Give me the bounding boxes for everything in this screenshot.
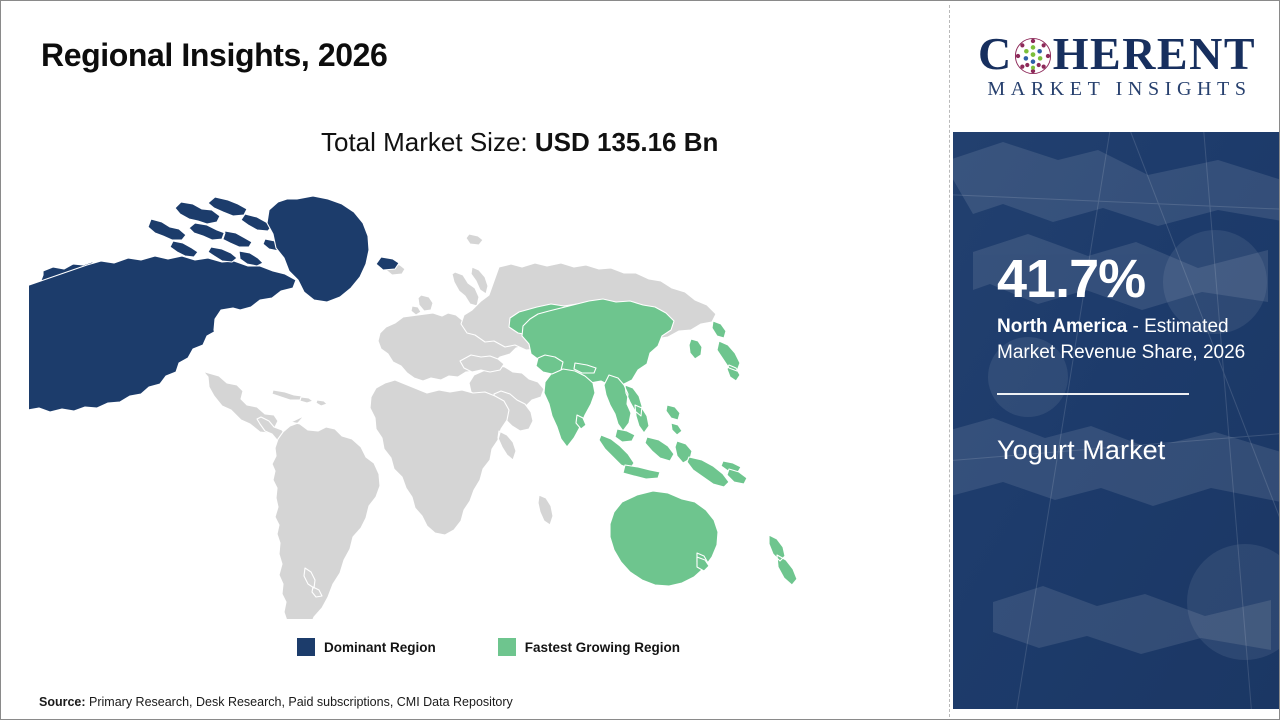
legend-item-fastest-growing: Fastest Growing Region <box>498 638 680 656</box>
world-map <box>29 179 909 619</box>
source-note: Source: Primary Research, Desk Research,… <box>39 695 513 709</box>
world-map-svg <box>29 179 909 619</box>
total-market-size: Total Market Size: USD 135.16 Bn <box>321 127 718 158</box>
globe-icon <box>1014 37 1052 75</box>
stat-value: 41.7% <box>997 252 1265 307</box>
source-text: Primary Research, Desk Research, Paid su… <box>86 695 513 709</box>
logo-tagline: MARKET INSIGHTS <box>982 79 1251 99</box>
stat-panel-content: 41.7% North America - Estimated Market R… <box>997 252 1265 466</box>
stat-region-name: North America <box>997 316 1127 337</box>
map-legend: Dominant Region Fastest Growing Region <box>297 638 680 656</box>
legend-item-dominant: Dominant Region <box>297 638 436 656</box>
stat-description: North America - Estimated Market Revenue… <box>997 314 1265 365</box>
stat-panel: 41.7% North America - Estimated Market R… <box>953 132 1280 709</box>
brand-logo: C <box>969 19 1265 111</box>
legend-label-dominant: Dominant Region <box>324 640 436 655</box>
map-region-fastest-growing <box>509 299 797 586</box>
market-size-value: USD 135.16 Bn <box>535 127 719 157</box>
market-name: Yogurt Market <box>997 435 1265 466</box>
market-size-label: Total Market Size: <box>321 127 535 157</box>
panel-divider <box>997 393 1189 395</box>
legend-label-fastest: Fastest Growing Region <box>525 640 680 655</box>
infographic-canvas: Regional Insights, 2026 Total Market Siz… <box>0 0 1280 720</box>
page-title: Regional Insights, 2026 <box>41 37 387 74</box>
vertical-dashed-divider <box>949 5 950 717</box>
logo-wordmark-before: C <box>978 31 1013 77</box>
source-label: Source: <box>39 695 86 709</box>
logo-wordmark: C <box>978 31 1256 77</box>
legend-swatch-fastest <box>498 638 516 656</box>
legend-swatch-dominant <box>297 638 315 656</box>
logo-wordmark-after: HERENT <box>1053 31 1256 77</box>
